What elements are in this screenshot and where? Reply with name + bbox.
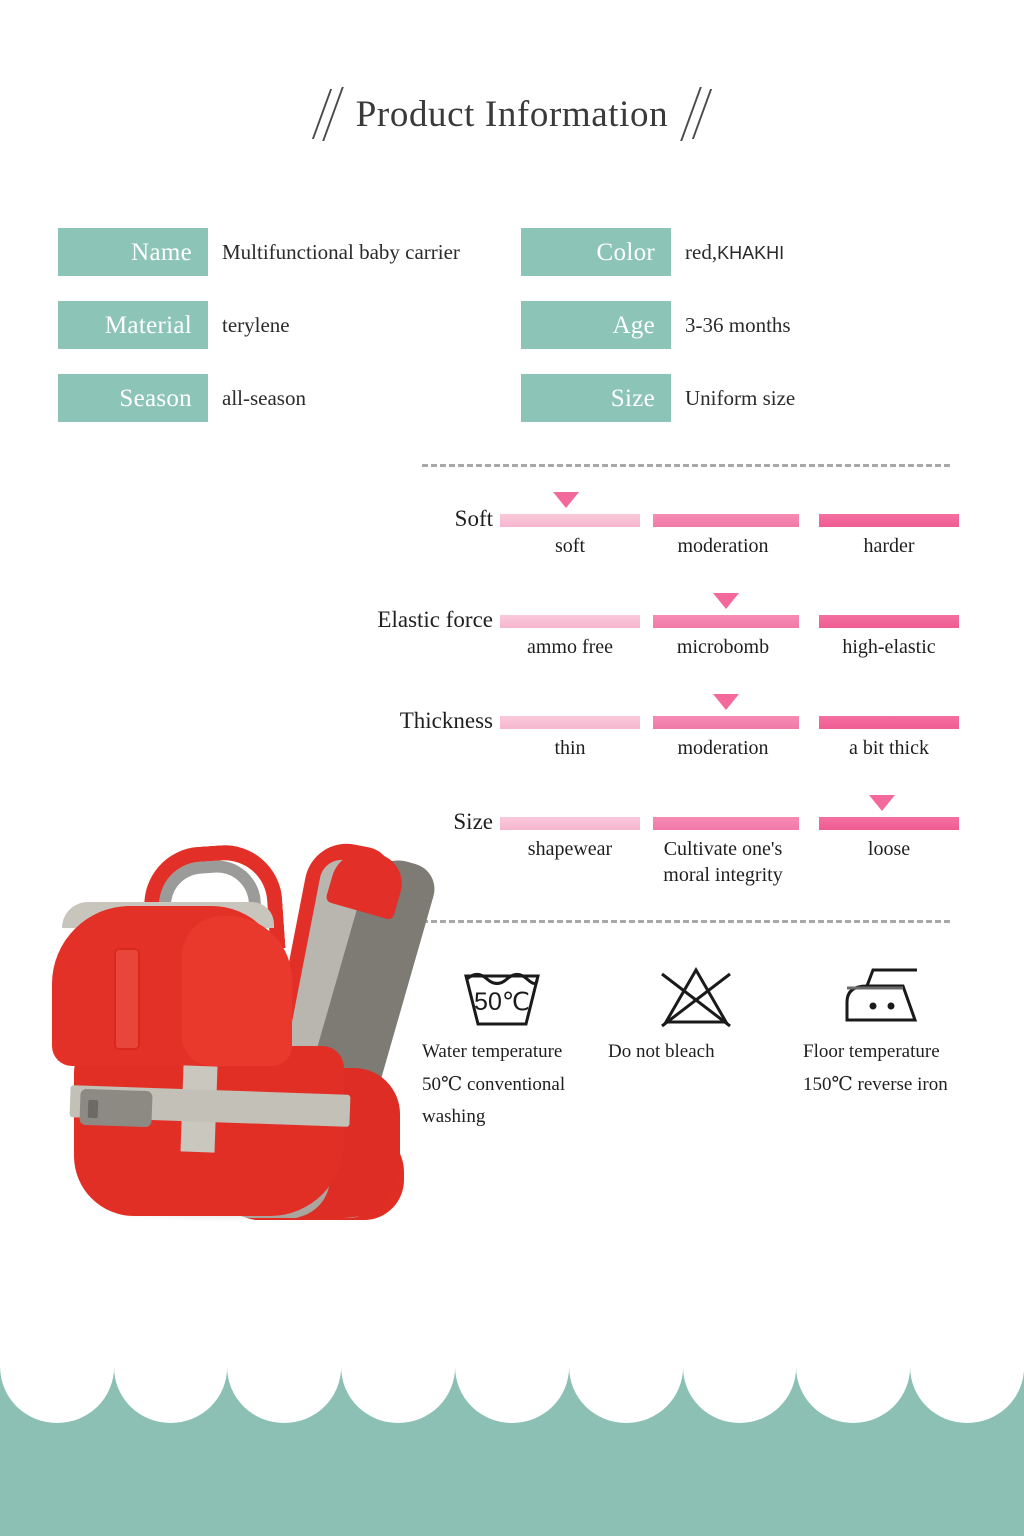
scale-level-soft-1: moderation bbox=[653, 492, 793, 560]
care-text-washing: Water temperature 50℃ conventional washi… bbox=[422, 1036, 622, 1134]
do-not-bleach-icon bbox=[608, 958, 808, 1036]
scale-label-size: Size bbox=[453, 809, 493, 835]
spec-label-name: Name bbox=[58, 228, 208, 276]
footer-wave bbox=[0, 1390, 1024, 1536]
scale-bar-thickness-0 bbox=[500, 716, 640, 729]
scale-level-size-2: loose bbox=[819, 795, 959, 863]
spec-value-age: 3-36 months bbox=[685, 313, 791, 338]
product-buckle-slot bbox=[88, 1100, 99, 1118]
scale-caption-elastic-2: high-elastic bbox=[819, 635, 959, 661]
wash-temp-text: 50℃ bbox=[474, 988, 530, 1016]
scale-bar-elastic-1 bbox=[653, 615, 799, 628]
scale-label-soft: Soft bbox=[455, 506, 493, 532]
scale-marker-soft bbox=[553, 492, 579, 508]
divider-bottom bbox=[422, 920, 950, 923]
scale-caption-size-0: shapewear bbox=[500, 837, 640, 863]
scale-level-size-1: Cultivate one's moral integrity bbox=[653, 795, 793, 888]
spec-label-age: Age bbox=[521, 301, 671, 349]
scale-bar-size-1 bbox=[653, 817, 799, 830]
divider-top bbox=[422, 464, 950, 467]
scale-marker-size bbox=[869, 795, 895, 811]
scale-bar-thickness-2 bbox=[819, 716, 959, 729]
spec-row-size: Size Uniform size bbox=[521, 374, 795, 422]
scale-caption-thickness-1: moderation bbox=[653, 736, 793, 762]
care-text-iron: Floor temperature 150℃ reverse iron bbox=[803, 1036, 1003, 1101]
scale-bar-elastic-0 bbox=[500, 615, 640, 628]
product-hood-fold bbox=[182, 916, 292, 1066]
spec-label-size: Size bbox=[521, 374, 671, 422]
spec-value-color-khakhi: KHAKHI bbox=[717, 243, 784, 263]
scale-bar-thickness-1 bbox=[653, 716, 799, 729]
care-line-2: 150℃ reverse iron bbox=[803, 1069, 1003, 1102]
care-item-bleach: Do not bleach bbox=[608, 958, 808, 1069]
scale-bar-elastic-2 bbox=[819, 615, 959, 628]
scale-level-elastic-2: high-elastic bbox=[819, 593, 959, 661]
scale-caption-soft-1: moderation bbox=[653, 534, 793, 560]
product-hood-tab bbox=[114, 948, 140, 1050]
scale-level-elastic-1: microbomb bbox=[653, 593, 793, 661]
footer-scallop bbox=[796, 1368, 910, 1424]
scale-level-thickness-0: thin bbox=[500, 694, 640, 762]
iron-icon bbox=[803, 958, 1003, 1036]
spec-value-material: terylene bbox=[222, 313, 290, 338]
scale-caption-size-2: loose bbox=[819, 837, 959, 863]
care-line-1: Floor temperature bbox=[803, 1036, 1003, 1069]
scale-label-elastic-force: Elastic force bbox=[377, 607, 493, 633]
spec-label-color: Color bbox=[521, 228, 671, 276]
footer-scallop bbox=[341, 1368, 455, 1424]
product-image bbox=[32, 828, 428, 1228]
scale-row-elastic-force: Elastic force ammo free microbomb high-e… bbox=[0, 593, 1024, 693]
scale-caption-soft-2: harder bbox=[819, 534, 959, 560]
scale-level-size-0: shapewear bbox=[500, 795, 640, 863]
scale-bar-soft-0 bbox=[500, 514, 640, 527]
spec-row-age: Age 3-36 months bbox=[521, 301, 791, 349]
scale-row-thickness: Thickness thin moderation a bit thick bbox=[0, 694, 1024, 794]
spec-row-color: Color red,KHAKHI bbox=[521, 228, 784, 276]
scale-caption-elastic-0: ammo free bbox=[500, 635, 640, 661]
spec-value-season: all-season bbox=[222, 386, 306, 411]
scale-level-elastic-0: ammo free bbox=[500, 593, 640, 661]
footer-band bbox=[0, 1424, 1024, 1536]
care-line-1: Do not bleach bbox=[608, 1036, 808, 1069]
footer-scallop bbox=[455, 1368, 569, 1424]
scale-label-thickness: Thickness bbox=[400, 708, 493, 734]
scale-caption-thickness-2: a bit thick bbox=[819, 736, 959, 762]
footer-scallop bbox=[228, 1368, 342, 1424]
scale-caption-size-1: Cultivate one's moral integrity bbox=[653, 837, 793, 888]
spec-row-name: Name Multifunctional baby carrier bbox=[58, 228, 460, 276]
scale-bar-soft-2 bbox=[819, 514, 959, 527]
spec-value-size: Uniform size bbox=[685, 386, 795, 411]
scale-bar-size-0 bbox=[500, 817, 640, 830]
scale-level-soft-2: harder bbox=[819, 492, 959, 560]
footer-scallop bbox=[0, 1368, 114, 1424]
spec-label-season: Season bbox=[58, 374, 208, 422]
scale-caption-soft-0: soft bbox=[500, 534, 640, 560]
scale-bar-soft-1 bbox=[653, 514, 799, 527]
spec-value-name: Multifunctional baby carrier bbox=[222, 240, 460, 265]
spec-value-color-red: red, bbox=[685, 240, 717, 264]
spec-row-season: Season all-season bbox=[58, 374, 306, 422]
scale-row-soft: Soft soft moderation harder bbox=[0, 492, 1024, 592]
spec-label-material: Material bbox=[58, 301, 208, 349]
decorative-slashes-right bbox=[690, 86, 703, 142]
page-header: Product Information bbox=[0, 86, 1024, 142]
scale-caption-thickness-0: thin bbox=[500, 736, 640, 762]
scale-marker-elastic-force bbox=[713, 593, 739, 609]
spec-value-color: red,KHAKHI bbox=[685, 240, 784, 265]
spec-row-material: Material terylene bbox=[58, 301, 290, 349]
page-title: Product Information bbox=[356, 93, 668, 136]
scale-bar-size-2 bbox=[819, 817, 959, 830]
scale-level-soft-0: soft bbox=[500, 492, 640, 560]
footer-scallop bbox=[114, 1368, 228, 1424]
scale-level-thickness-2: a bit thick bbox=[819, 694, 959, 762]
care-line-1: Water temperature bbox=[422, 1036, 622, 1069]
care-line-3: washing bbox=[422, 1101, 622, 1134]
care-text-bleach: Do not bleach bbox=[608, 1036, 808, 1069]
decorative-slashes-left bbox=[321, 86, 334, 142]
care-line-2: 50℃ conventional bbox=[422, 1069, 622, 1102]
footer-scallop bbox=[569, 1368, 683, 1424]
scale-marker-thickness bbox=[713, 694, 739, 710]
footer-scallop bbox=[683, 1368, 797, 1424]
footer-scallop-row bbox=[0, 1368, 1024, 1424]
footer-scallop bbox=[910, 1368, 1024, 1424]
wash-tub-icon: 50℃ bbox=[422, 958, 622, 1036]
care-item-washing: 50℃ Water temperature 50℃ conventional w… bbox=[422, 958, 622, 1134]
scale-level-thickness-1: moderation bbox=[653, 694, 793, 762]
care-item-iron: Floor temperature 150℃ reverse iron bbox=[803, 958, 1003, 1101]
scale-caption-elastic-1: microbomb bbox=[653, 635, 793, 661]
